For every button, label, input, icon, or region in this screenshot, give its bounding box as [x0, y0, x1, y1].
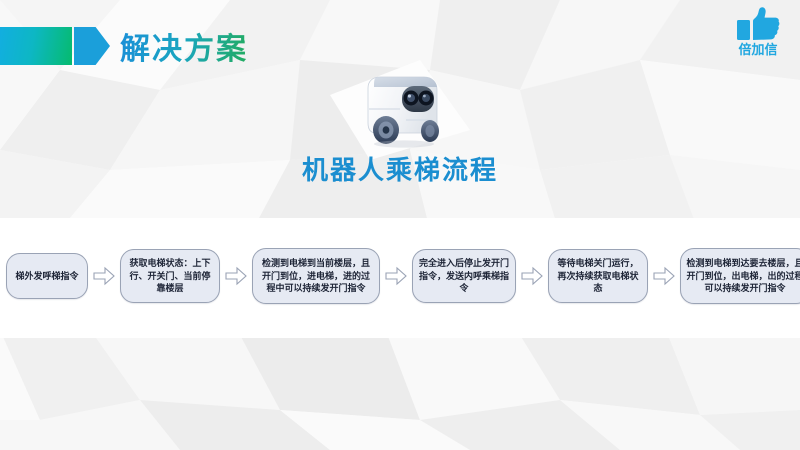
- block-arrow-right-icon: [520, 264, 544, 288]
- flow-step-2-label: 获取电梯状态：上下行、开关门、当前停靠楼层: [126, 257, 214, 295]
- flow-step-1[interactable]: 梯外发呼梯指令: [6, 253, 88, 299]
- flow-step-6-label: 检测到电梯到达要去楼层，且开门到位，出电梯，出的过程可以持续发开门指令: [686, 257, 800, 295]
- header-banner-arrow: [0, 27, 110, 65]
- flow-step-5-label: 等待电梯关门运行，再次持续获取电梯状态: [554, 257, 642, 295]
- slide-canvas: 解决方案 倍加信: [0, 0, 800, 450]
- flow-step-3[interactable]: 检测到电梯到当前楼层，且开门到位，进电梯，进的过程中可以持续发开门指令: [252, 248, 380, 304]
- header-banner-arrowhead: [74, 27, 110, 65]
- header-banner-bar: [0, 27, 72, 65]
- thumbs-up-icon: [735, 6, 781, 42]
- flow-step-6[interactable]: 检测到电梯到达要去楼层，且开门到位，出电梯，出的过程可以持续发开门指令: [680, 248, 800, 304]
- brand-logo: 倍加信: [726, 6, 790, 57]
- flow-step-4-label: 完全进入后停止发开门指令，发送内呼乘梯指令: [418, 257, 510, 295]
- flow-step-5[interactable]: 等待电梯关门运行，再次持续获取电梯状态: [548, 249, 648, 303]
- flow-step-4[interactable]: 完全进入后停止发开门指令，发送内呼乘梯指令: [412, 249, 516, 303]
- robot-elevator-flow: 梯外发呼梯指令 获取电梯状态：上下行、开关门、当前停靠楼层 检测到电梯到当前楼层…: [6, 240, 796, 312]
- page-title: 解决方案: [120, 24, 248, 68]
- flow-step-3-label: 检测到电梯到当前楼层，且开门到位，进电梯，进的过程中可以持续发开门指令: [258, 257, 374, 295]
- delivery-robot-icon: [352, 62, 448, 150]
- block-arrow-right-icon: [224, 264, 248, 288]
- block-arrow-right-icon: [652, 264, 676, 288]
- block-arrow-right-icon: [92, 264, 116, 288]
- flow-step-2[interactable]: 获取电梯状态：上下行、开关门、当前停靠楼层: [120, 249, 220, 303]
- flow-step-1-label: 梯外发呼梯指令: [15, 270, 78, 283]
- block-arrow-right-icon: [384, 264, 408, 288]
- section-title: 机器人乘梯流程: [0, 150, 800, 187]
- brand-name: 倍加信: [726, 43, 790, 57]
